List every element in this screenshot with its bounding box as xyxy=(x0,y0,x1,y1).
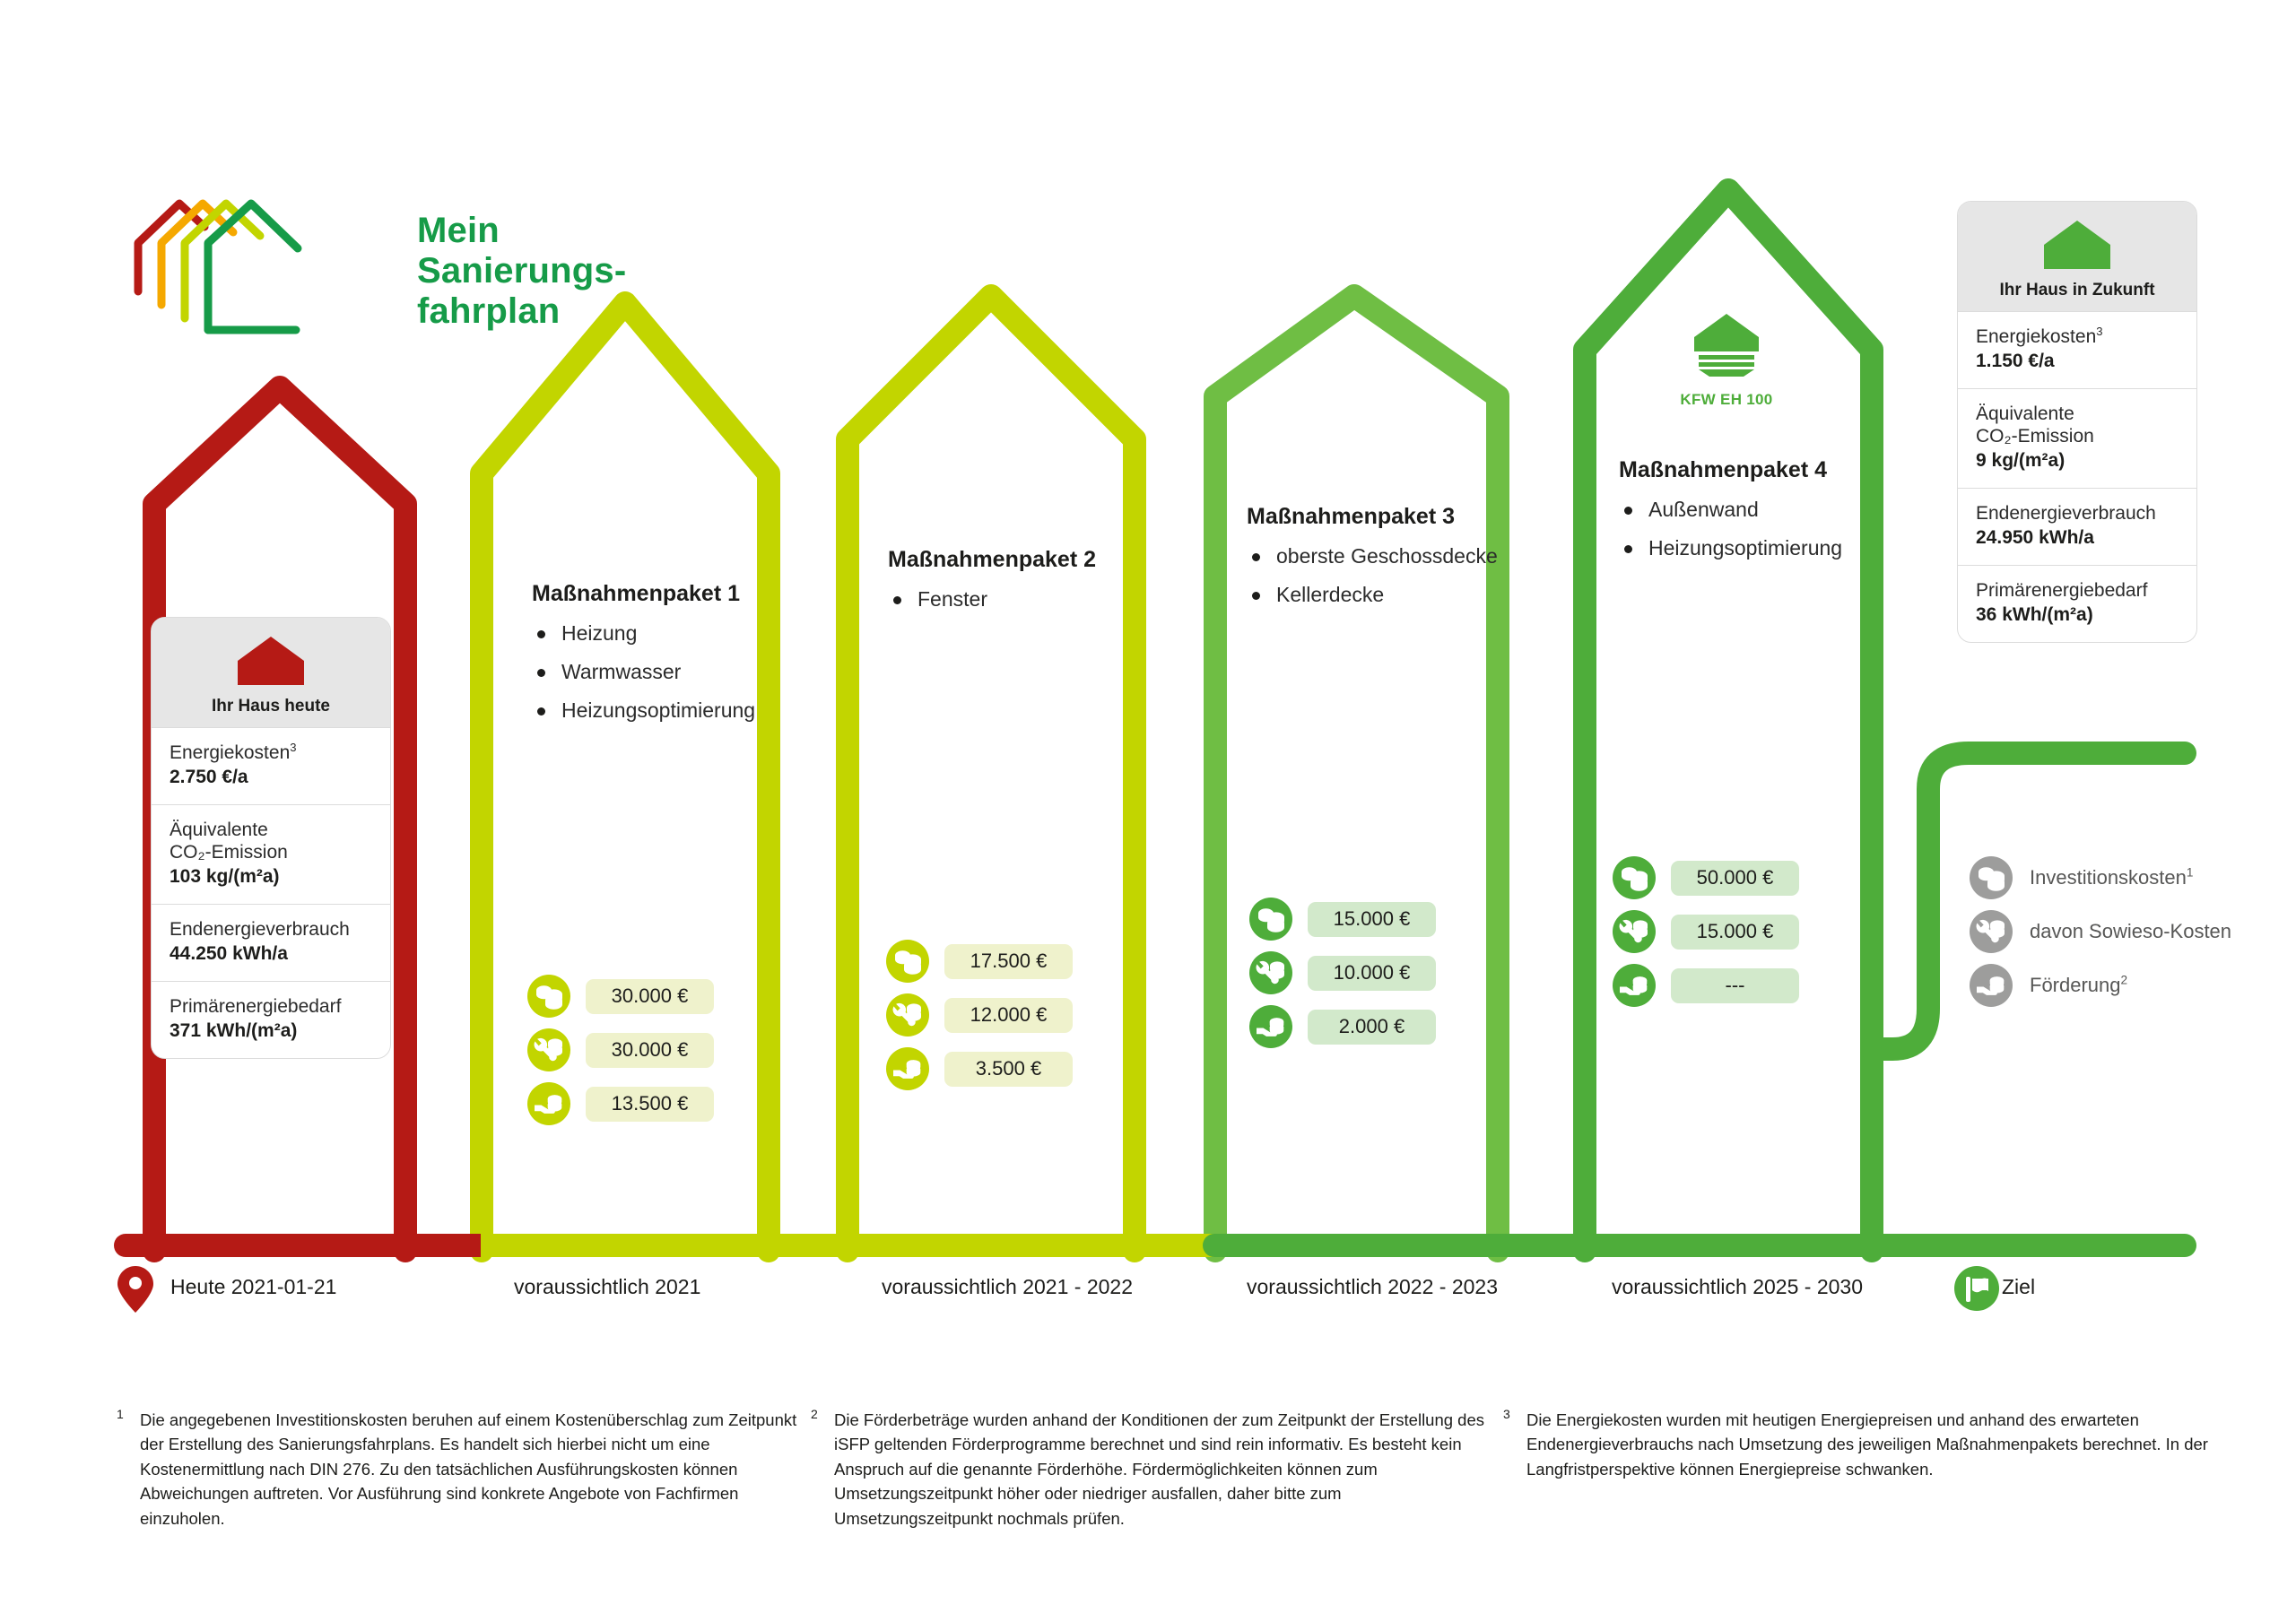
measure-item: Heizungsoptimierung xyxy=(532,700,755,721)
metric-endenergie: Endenergieverbrauch 44.250 kWh/a xyxy=(152,904,390,981)
package-1-costs: 30.000 € 30.000 € 13.500 € xyxy=(527,975,714,1136)
package-title: Maßnahmenpaket 4 xyxy=(1619,457,1842,483)
cost-row-foerderung: --- xyxy=(1613,964,1799,1007)
map-pin-icon xyxy=(115,1264,156,1314)
card-header: Ihr Haus in Zukunft xyxy=(1958,202,2196,311)
wrench-coins-icon xyxy=(1249,951,1292,994)
package-3-costs: 15.000 € 10.000 € 2.000 € xyxy=(1249,898,1436,1059)
package-4-costs: 50.000 € 15.000 € --- xyxy=(1613,856,1799,1018)
metric-label: Endenergieverbrauch xyxy=(1976,502,2179,525)
timeline-label-goal: Ziel xyxy=(2002,1275,2035,1299)
footnote-text: Die Förderbeträge wurden anhand der Kond… xyxy=(834,1410,1484,1528)
kfw-label: KFW EH 100 xyxy=(1664,391,1789,409)
measure-item: Heizung xyxy=(532,623,755,644)
cost-row-investment: 30.000 € xyxy=(527,975,714,1018)
hand-coins-icon xyxy=(1613,964,1656,1007)
hand-coins-icon xyxy=(886,1047,929,1090)
metric-primaerenergie: Primärenergiebedarf 371 kWh/(m²a) xyxy=(152,981,390,1058)
hand-coins-icon xyxy=(1970,964,2013,1007)
metric-label: Primärenergiebedarf xyxy=(1976,579,2179,603)
coins-icon xyxy=(886,940,929,983)
metric-value: 9 kg/(m²a) xyxy=(1976,449,2179,473)
footnote-ref: 3 xyxy=(290,741,296,754)
package-1: Maßnahmenpaket 1 Heizung Warmwasser Heiz… xyxy=(532,581,755,739)
footnote-text: Die Energiekosten wurden mit heutigen En… xyxy=(1526,1410,2208,1479)
brand-logo: Mein Sanierungs- fahrplan xyxy=(126,184,502,363)
measure-list: oberste Geschossdecke Kellerdecke xyxy=(1247,546,1498,605)
red-house-icon xyxy=(234,634,308,688)
timeline-label-4: voraussichtlich 2025 - 2030 xyxy=(1612,1275,1863,1299)
metric-co2: Äquivalente CO₂-Emission 103 kg/(m²a) xyxy=(152,804,390,904)
footnote-2: 2 Die Förderbeträge wurden anhand der Ko… xyxy=(834,1408,1498,1531)
metric-value: 24.950 kWh/a xyxy=(1976,526,2179,550)
legend-item-investment: Investitionskosten1 xyxy=(1970,856,2231,899)
timeline-label-2: voraussichtlich 2021 - 2022 xyxy=(882,1275,1133,1299)
footnote-number: 2 xyxy=(811,1405,818,1424)
wrench-coins-icon xyxy=(1613,910,1656,953)
metric-label-2: CO₂-Emission xyxy=(170,841,372,864)
wrench-coins-icon xyxy=(1970,910,2013,953)
cost-row-foerderung: 2.000 € xyxy=(1249,1005,1436,1048)
package-title: Maßnahmenpaket 2 xyxy=(888,547,1096,573)
metric-label-2: CO₂-Emission xyxy=(1976,425,2179,448)
metric-label: Energiekosten xyxy=(170,742,290,763)
metric-primaerenergie: Primärenergiebedarf 36 kWh/(m²a) xyxy=(1958,565,2196,642)
measure-list: Heizung Warmwasser Heizungsoptimierung xyxy=(532,623,755,721)
cost-value: 50.000 € xyxy=(1671,861,1799,896)
kfw-efficiency-badge: KFW EH 100 xyxy=(1664,311,1789,409)
footnote-text: Die angegebenen Investitionskosten beruh… xyxy=(140,1410,796,1528)
footnote-ref: 2 xyxy=(2121,974,2128,987)
package-2: Maßnahmenpaket 2 Fenster xyxy=(888,547,1096,628)
card-header: Ihr Haus heute xyxy=(152,618,390,727)
metric-value: 103 kg/(m²a) xyxy=(170,865,372,889)
legend-item-foerderung: Förderung2 xyxy=(1970,964,2231,1007)
cost-value: 17.500 € xyxy=(944,944,1073,979)
flag-icon xyxy=(1953,1265,2000,1312)
cost-legend: Investitionskosten1 davon Sowieso-Kosten… xyxy=(1970,856,2231,1018)
footnote-ref: 3 xyxy=(2096,325,2102,338)
cost-value: 12.000 € xyxy=(944,998,1073,1033)
coins-icon xyxy=(527,975,570,1018)
cost-value: 10.000 € xyxy=(1308,956,1436,991)
house-outline-package-2 xyxy=(848,296,1135,1251)
wrench-coins-icon xyxy=(886,993,929,1037)
measure-item: Heizungsoptimierung xyxy=(1619,538,1842,559)
package-2-costs: 17.500 € 12.000 € 3.500 € xyxy=(886,940,1073,1101)
footnote-1: 1 Die angegebenen Investitionskosten ber… xyxy=(140,1408,804,1531)
measure-item: oberste Geschossdecke xyxy=(1247,546,1498,567)
measure-item: Fenster xyxy=(888,589,1096,610)
cost-row-investment: 15.000 € xyxy=(1249,898,1436,941)
metric-label: Äquivalente xyxy=(170,819,372,842)
cost-value: 2.000 € xyxy=(1308,1010,1436,1045)
measure-list: Außenwand Heizungsoptimierung xyxy=(1619,499,1842,559)
logo-line-1: Mein xyxy=(417,211,626,251)
cost-row-sowieso: 12.000 € xyxy=(886,993,1073,1037)
footnote-ref: 1 xyxy=(2187,866,2194,880)
cost-row-investment: 50.000 € xyxy=(1613,856,1799,899)
legend-label: davon Sowieso-Kosten xyxy=(2030,920,2231,942)
metric-co2: Äquivalente CO₂-Emission 9 kg/(m²a) xyxy=(1958,388,2196,488)
measure-item: Kellerdecke xyxy=(1247,585,1498,605)
legend-label: Investitionskosten xyxy=(2030,866,2187,889)
cost-row-sowieso: 15.000 € xyxy=(1613,910,1799,953)
metric-energiekosten: Energiekosten3 1.150 €/a xyxy=(1958,311,2196,388)
footnote-number: 3 xyxy=(1503,1405,1510,1424)
package-4: Maßnahmenpaket 4 Außenwand Heizungsoptim… xyxy=(1619,457,1842,577)
cost-row-sowieso: 10.000 € xyxy=(1249,951,1436,994)
package-title: Maßnahmenpaket 1 xyxy=(532,581,755,607)
cost-value: 13.500 € xyxy=(586,1087,714,1122)
nested-house-logo-icon xyxy=(126,184,422,363)
metric-energiekosten: Energiekosten3 2.750 €/a xyxy=(152,727,390,804)
measure-item: Warmwasser xyxy=(532,662,755,682)
cost-value: 15.000 € xyxy=(1671,915,1799,950)
cost-value: 30.000 € xyxy=(586,979,714,1014)
logo-line-3: fahrplan xyxy=(417,291,626,332)
wrench-coins-icon xyxy=(527,1028,570,1071)
footnote-3: 3 Die Energiekosten wurden mit heutigen … xyxy=(1526,1408,2208,1481)
footnote-number: 1 xyxy=(117,1405,124,1424)
cost-value: 15.000 € xyxy=(1308,902,1436,937)
metric-label: Primärenergiebedarf xyxy=(170,995,372,1019)
coins-icon xyxy=(1249,898,1292,941)
package-3: Maßnahmenpaket 3 oberste Geschossdecke K… xyxy=(1247,504,1498,623)
efficiency-house-icon xyxy=(1688,311,1765,379)
cost-row-investment: 17.500 € xyxy=(886,940,1073,983)
metric-endenergie: Endenergieverbrauch 24.950 kWh/a xyxy=(1958,488,2196,565)
cost-row-foerderung: 13.500 € xyxy=(527,1082,714,1125)
timeline-label-1: voraussichtlich 2021 xyxy=(514,1275,700,1299)
measure-list: Fenster xyxy=(888,589,1096,610)
hand-coins-icon xyxy=(527,1082,570,1125)
cost-value: 3.500 € xyxy=(944,1052,1073,1087)
card-title: Ihr Haus in Zukunft xyxy=(1958,281,2196,300)
green-house-icon xyxy=(2040,218,2114,272)
cost-value: 30.000 € xyxy=(586,1033,714,1068)
timeline-label-3: voraussichtlich 2022 - 2023 xyxy=(1247,1275,1498,1299)
metric-value: 1.150 €/a xyxy=(1976,350,2179,373)
metric-value: 2.750 €/a xyxy=(170,766,372,789)
metric-label: Endenergieverbrauch xyxy=(170,918,372,941)
legend-label: Förderung xyxy=(2030,974,2121,996)
house-future-card: Ihr Haus in Zukunft Energiekosten3 1.150… xyxy=(1957,201,2197,643)
measure-item: Außenwand xyxy=(1619,499,1842,520)
timeline-label-today: Heute 2021-01-21 xyxy=(170,1275,336,1299)
legend-item-sowieso: davon Sowieso-Kosten xyxy=(1970,910,2231,953)
coins-icon xyxy=(1613,856,1656,899)
logo-line-2: Sanierungs- xyxy=(417,251,626,291)
package-title: Maßnahmenpaket 3 xyxy=(1247,504,1498,530)
house-today-card: Ihr Haus heute Energiekosten3 2.750 €/a … xyxy=(151,617,391,1059)
house-outline-package-3 xyxy=(1215,296,1498,1251)
metric-value: 36 kWh/(m²a) xyxy=(1976,603,2179,627)
metric-value: 44.250 kWh/a xyxy=(170,942,372,966)
cost-value: --- xyxy=(1671,968,1799,1003)
card-title: Ihr Haus heute xyxy=(152,697,390,716)
coins-icon xyxy=(1970,856,2013,899)
hand-coins-icon xyxy=(1249,1005,1292,1048)
metric-label: Energiekosten xyxy=(1976,326,2096,347)
metric-value: 371 kWh/(m²a) xyxy=(170,1019,372,1043)
cost-row-sowieso: 30.000 € xyxy=(527,1028,714,1071)
cost-row-foerderung: 3.500 € xyxy=(886,1047,1073,1090)
metric-label: Äquivalente xyxy=(1976,403,2179,426)
